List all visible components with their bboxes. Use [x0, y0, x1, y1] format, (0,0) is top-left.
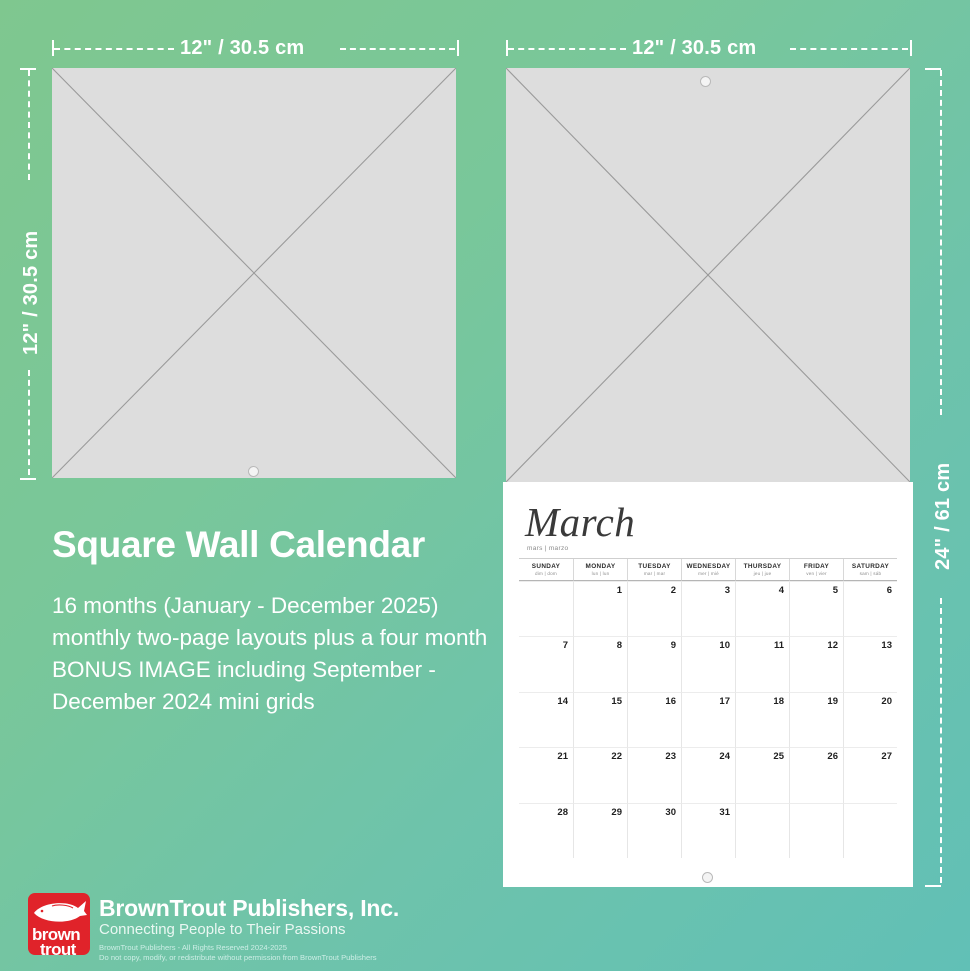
placeholder-cross-icon — [506, 68, 910, 482]
calendar-day-number: 1 — [617, 585, 622, 596]
calendar-day-number: 22 — [611, 751, 622, 762]
left-panel-height-tick-bottom — [20, 478, 36, 480]
calendar-weekday-header: MONDAYlun | lun — [573, 559, 627, 581]
legal-line-2: Do not copy, modify, or redistribute wit… — [99, 953, 377, 963]
brand-tagline: Connecting People to Their Passions — [99, 921, 346, 938]
right-panel-height-label-wrap: 24" / 61 cm — [932, 463, 955, 570]
calendar-day-cell[interactable]: 8 — [573, 636, 627, 691]
calendar-day-number: 7 — [563, 640, 568, 651]
calendar-day-cell[interactable]: 20 — [843, 692, 897, 747]
calendar-day-cell[interactable]: 2 — [627, 581, 681, 636]
calendar-day-number: 17 — [719, 696, 730, 707]
calendar-day-number: 20 — [881, 696, 892, 707]
calendar-day-number: 15 — [611, 696, 622, 707]
calendar-day-number: 26 — [827, 751, 838, 762]
calendar-day-cell[interactable] — [843, 803, 897, 858]
calendar-day-cell[interactable]: 6 — [843, 581, 897, 636]
left-image-placeholder — [52, 68, 456, 478]
calendar-day-cell[interactable]: 31 — [681, 803, 735, 858]
left-panel-width-rule-b — [340, 48, 455, 50]
logo-word-trout: trout — [40, 941, 76, 955]
right-panel-height-rule-b — [940, 598, 942, 883]
calendar-day-number: 18 — [773, 696, 784, 707]
calendar-weekday-header: SATURDAYsam | sáb — [843, 559, 897, 581]
left-panel-height-rule-a — [28, 70, 30, 180]
calendar-day-number: 5 — [833, 585, 838, 596]
calendar-day-cell[interactable]: 26 — [789, 747, 843, 802]
left-panel-width-tick-end — [457, 40, 459, 56]
calendar-day-cell[interactable] — [735, 803, 789, 858]
product-spec-image: 12" / 30.5 cm 12" / 30.5 cm 12" / 30.5 c… — [0, 0, 970, 971]
calendar-day-cell[interactable]: 14 — [519, 692, 573, 747]
calendar-day-number: 19 — [827, 696, 838, 707]
right-image-placeholder — [506, 68, 910, 482]
calendar-day-number: 9 — [671, 640, 676, 651]
browntrout-logo: brown trout — [28, 893, 90, 955]
product-description: 16 months (January - December 2025) mont… — [52, 590, 522, 718]
calendar-day-cell[interactable]: 15 — [573, 692, 627, 747]
calendar-day-number: 28 — [557, 807, 568, 818]
calendar-day-cell[interactable]: 17 — [681, 692, 735, 747]
calendar-day-number: 29 — [611, 807, 622, 818]
calendar-day-number: 21 — [557, 751, 568, 762]
calendar-day-number: 12 — [827, 640, 838, 651]
calendar-day-cell[interactable]: 19 — [789, 692, 843, 747]
calendar-day-cell[interactable]: 4 — [735, 581, 789, 636]
calendar-day-cell[interactable] — [789, 803, 843, 858]
calendar-weekday-header: SUNDAYdim | dom — [519, 559, 573, 581]
weekday-name: SATURDAY — [844, 563, 897, 570]
right-panel-height-tick-bottom — [925, 885, 941, 887]
calendar-day-cell[interactable]: 7 — [519, 636, 573, 691]
calendar-day-cell[interactable]: 18 — [735, 692, 789, 747]
calendar-day-number: 2 — [671, 585, 676, 596]
left-panel-height-label: 12" / 30.5 cm — [20, 231, 42, 355]
calendar-day-cell[interactable]: 11 — [735, 636, 789, 691]
weekday-name: MONDAY — [574, 563, 627, 570]
weekday-name-translations: dim | dom — [519, 571, 573, 576]
calendar-day-number: 13 — [881, 640, 892, 651]
calendar-day-number: 24 — [719, 751, 730, 762]
calendar-bottom-hanging-hole — [702, 872, 713, 883]
weekday-name: WEDNESDAY — [682, 563, 735, 570]
calendar-day-cell[interactable]: 5 — [789, 581, 843, 636]
weekday-name: TUESDAY — [628, 563, 681, 570]
right-panel-width-label: 12" / 30.5 cm — [632, 37, 756, 60]
calendar-day-cell[interactable]: 27 — [843, 747, 897, 802]
left-panel-height-rule-b — [28, 370, 30, 475]
calendar-day-cell[interactable]: 16 — [627, 692, 681, 747]
weekday-name-translations: jeu | jue — [736, 571, 789, 576]
product-headline: Square Wall Calendar — [52, 524, 425, 566]
right-panel-height-tick-top — [925, 68, 941, 70]
calendar-month-title: March — [525, 502, 635, 543]
calendar-day-number: 6 — [887, 585, 892, 596]
calendar-day-cell[interactable]: 22 — [573, 747, 627, 802]
calendar-page: March mars | marzo SUNDAYdim | domMONDAY… — [503, 482, 913, 887]
right-panel-width-tick-end — [910, 40, 912, 56]
calendar-day-number: 8 — [617, 640, 622, 651]
calendar-day-cell[interactable]: 9 — [627, 636, 681, 691]
trout-fish-icon — [28, 895, 90, 929]
calendar-day-number: 31 — [719, 807, 730, 818]
right-panel-height-rule-a — [940, 70, 942, 415]
calendar-day-number: 10 — [719, 640, 730, 651]
calendar-day-number: 16 — [665, 696, 676, 707]
calendar-day-number: 3 — [725, 585, 730, 596]
weekday-name-translations: ven | vier — [790, 571, 843, 576]
calendar-grid: SUNDAYdim | domMONDAYlun | lunTUESDAYmar… — [519, 558, 897, 858]
calendar-day-cell[interactable]: 23 — [627, 747, 681, 802]
calendar-day-number: 25 — [773, 751, 784, 762]
weekday-name: THURSDAY — [736, 563, 789, 570]
calendar-day-cell[interactable]: 25 — [735, 747, 789, 802]
calendar-day-number: 27 — [881, 751, 892, 762]
right-panel-width-rule-a — [508, 48, 626, 50]
legal-line-1: BrownTrout Publishers - All Rights Reser… — [99, 943, 287, 953]
weekday-name-translations: mar | mar — [628, 571, 681, 576]
calendar-day-cell[interactable]: 29 — [573, 803, 627, 858]
calendar-day-number: 11 — [774, 640, 784, 651]
right-panel-width-rule-b — [790, 48, 908, 50]
weekday-name: FRIDAY — [790, 563, 843, 570]
left-panel-height-label-wrap: 12" / 30.5 cm — [20, 231, 43, 355]
calendar-day-cell[interactable]: 10 — [681, 636, 735, 691]
right-panel-height-label: 24" / 61 cm — [932, 463, 954, 570]
calendar-weekday-header: WEDNESDAYmer | mié — [681, 559, 735, 581]
weekday-name-translations: lun | lun — [574, 571, 627, 576]
weekday-name-translations: mer | mié — [682, 571, 735, 576]
calendar-day-cell[interactable]: 24 — [681, 747, 735, 802]
calendar-day-cell[interactable]: 28 — [519, 803, 573, 858]
calendar-weekday-header: THURSDAYjeu | jue — [735, 559, 789, 581]
calendar-month-subtitle: mars | marzo — [527, 545, 568, 552]
left-panel-hanging-hole — [248, 466, 259, 477]
calendar-day-number: 4 — [779, 585, 784, 596]
calendar-day-cell[interactable] — [519, 581, 573, 636]
weekday-name: SUNDAY — [519, 563, 573, 570]
calendar-day-number: 30 — [665, 807, 676, 818]
calendar-weekday-header: TUESDAYmar | mar — [627, 559, 681, 581]
brand-name: BrownTrout Publishers, Inc. — [99, 895, 399, 922]
calendar-day-cell[interactable]: 30 — [627, 803, 681, 858]
right-panel-top-hanging-hole — [700, 76, 711, 87]
left-panel-width-rule-a — [54, 48, 174, 50]
calendar-weekday-header: FRIDAYven | vier — [789, 559, 843, 581]
calendar-day-cell[interactable]: 1 — [573, 581, 627, 636]
calendar-day-cell[interactable]: 12 — [789, 636, 843, 691]
left-panel-width-label: 12" / 30.5 cm — [180, 37, 304, 60]
calendar-day-cell[interactable]: 3 — [681, 581, 735, 636]
calendar-day-cell[interactable]: 21 — [519, 747, 573, 802]
weekday-name-translations: sam | sáb — [844, 571, 897, 576]
calendar-day-number: 14 — [557, 696, 568, 707]
calendar-day-cell[interactable]: 13 — [843, 636, 897, 691]
calendar-day-number: 23 — [665, 751, 676, 762]
placeholder-cross-icon — [52, 68, 456, 478]
